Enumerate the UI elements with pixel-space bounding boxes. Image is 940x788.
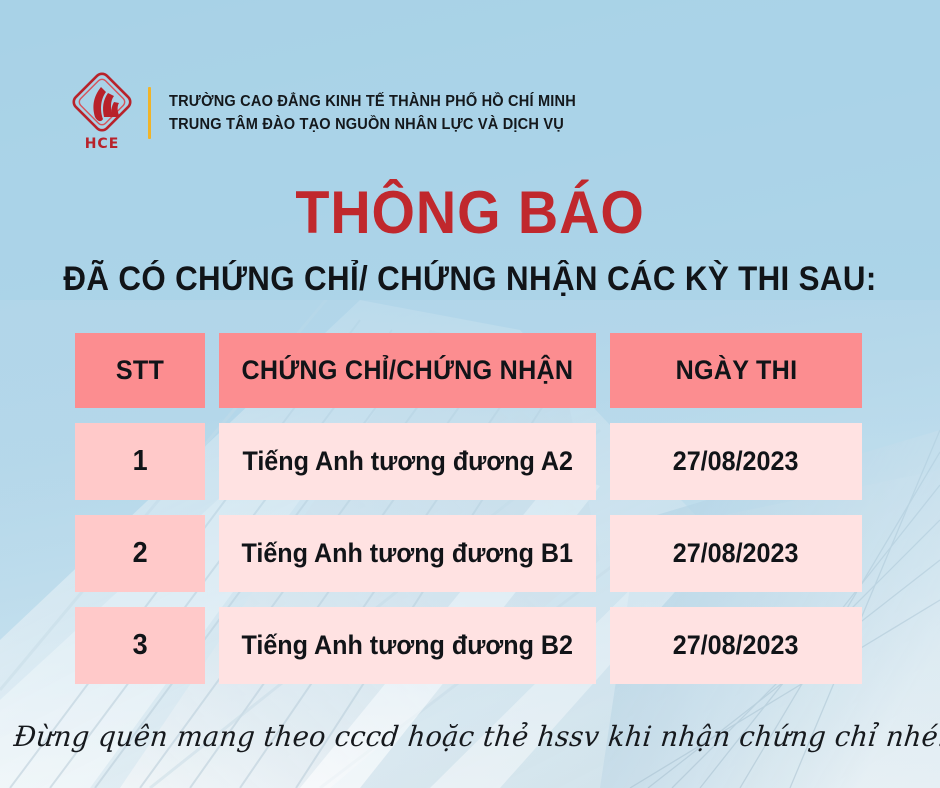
poster-canvas: HCE TRƯỜNG CAO ĐẲNG KINH TẾ THÀNH PHỐ HỒ… — [0, 0, 940, 788]
brand-header: HCE TRƯỜNG CAO ĐẲNG KINH TẾ THÀNH PHỐ HỒ… — [70, 72, 602, 154]
cell-certificate: Tiếng Anh tương đương A2 — [219, 423, 596, 500]
cell-exam-date: 27/08/2023 — [610, 515, 862, 592]
cell-stt: 2 — [75, 515, 205, 592]
column-header-stt: STT — [75, 333, 205, 408]
column-header-certificate: CHỨNG CHỈ/CHỨNG NHẬN — [219, 333, 596, 408]
brand-divider — [148, 87, 151, 139]
logo-wordmark: HCE — [70, 136, 134, 152]
column-header-stt-label: STT — [116, 355, 164, 386]
cell-stt: 3 — [75, 607, 205, 684]
page-title: THÔNG BÁO — [33, 178, 907, 247]
page-subtitle: ĐÃ CÓ CHỨNG CHỈ/ CHỨNG NHẬN CÁC KỲ THI S… — [38, 260, 903, 299]
cell-certificate: Tiếng Anh tương đương B1 — [219, 515, 596, 592]
column-header-exam-date: NGÀY THI — [610, 333, 862, 408]
column-header-certificate-label: CHỨNG CHỈ/CHỨNG NHẬN — [242, 355, 574, 386]
cell-exam-date: 27/08/2023 — [610, 423, 862, 500]
table-header-row: STT CHỨNG CHỈ/CHỨNG NHẬN NGÀY THI — [75, 333, 862, 408]
brand-line-school: TRƯỜNG CAO ĐẲNG KINH TẾ THÀNH PHỐ HỒ CHÍ… — [169, 93, 576, 111]
table-row: 1 Tiếng Anh tương đương A2 27/08/2023 — [75, 423, 862, 500]
hce-flame-diamond-icon — [70, 72, 134, 136]
hce-logo: HCE — [70, 72, 134, 154]
cell-stt: 1 — [75, 423, 205, 500]
certificates-table: STT CHỨNG CHỈ/CHỨNG NHẬN NGÀY THI 1 Tiến… — [75, 333, 862, 684]
cell-certificate: Tiếng Anh tương đương B2 — [219, 607, 596, 684]
brand-line-center: TRUNG TÂM ĐÀO TẠO NGUỒN NHÂN LỰC VÀ DỊCH… — [169, 116, 576, 134]
brand-text-block: TRƯỜNG CAO ĐẲNG KINH TẾ THÀNH PHỐ HỒ CHÍ… — [169, 93, 602, 134]
footer-note: Đừng quên mang theo cccd hoặc thẻ hssv k… — [12, 720, 927, 753]
table-row: 3 Tiếng Anh tương đương B2 27/08/2023 — [75, 607, 862, 684]
column-header-exam-date-label: NGÀY THI — [675, 355, 797, 386]
cell-exam-date: 27/08/2023 — [610, 607, 862, 684]
table-row: 2 Tiếng Anh tương đương B1 27/08/2023 — [75, 515, 862, 592]
